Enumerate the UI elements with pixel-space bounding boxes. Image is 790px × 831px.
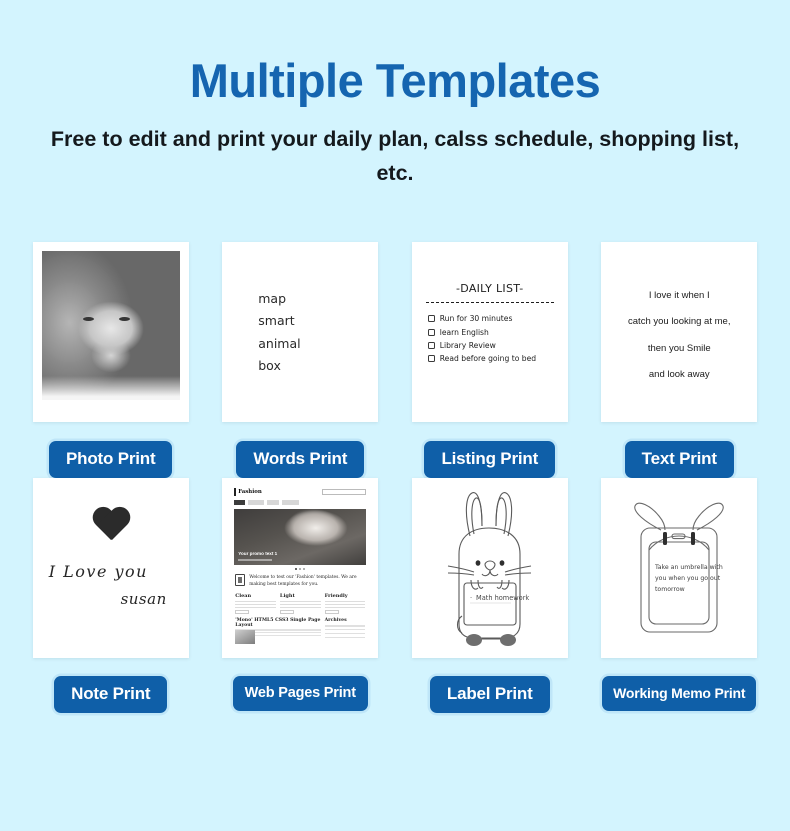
webpage-mock: Fashion Your promo text 1 (230, 485, 370, 650)
archive-link[interactable] (325, 629, 366, 630)
template-cell-words-print: map smart animal box Words Print (210, 242, 392, 478)
memo-ear-right (693, 503, 723, 530)
memo-line: tomorrow (655, 586, 685, 593)
checkbox-icon[interactable] (428, 315, 435, 322)
nav-item-about[interactable] (267, 500, 279, 505)
archive-link[interactable] (325, 637, 366, 638)
card-preview-label-print[interactable]: · Math homework (412, 478, 568, 658)
quote-line: then you Smile (613, 335, 745, 362)
feature-title: Friendly (325, 593, 366, 599)
text-placeholder-line (235, 601, 276, 602)
photo-print-button[interactable]: Photo Print (49, 441, 172, 478)
label-note-area (464, 583, 516, 625)
page-subtitle: Free to edit and print your daily plan, … (45, 105, 745, 190)
feature-column: Clean (235, 593, 276, 614)
word-item: smart (258, 310, 378, 332)
feature-title: Light (280, 593, 321, 599)
note-print-button[interactable]: Note Print (54, 676, 167, 713)
portrait-eye-right (119, 317, 130, 321)
carousel-dot[interactable] (303, 568, 305, 570)
checklist-label: Read before going to bed (440, 354, 536, 363)
template-cell-web-pages-print: Fashion Your promo text 1 (210, 478, 392, 713)
memo-ear-left (635, 503, 665, 530)
words-print-button[interactable]: Words Print (236, 441, 364, 478)
rabbit-whisker (448, 566, 474, 572)
web-pages-print-button[interactable]: Web Pages Print (233, 676, 368, 711)
webpage-header: Fashion (230, 485, 370, 498)
carousel-dot[interactable] (299, 568, 301, 570)
read-more-button[interactable] (280, 610, 294, 614)
article-thumbnail (235, 630, 255, 644)
memo-clip-left (663, 532, 667, 545)
page-title: Multiple Templates (0, 0, 790, 105)
rabbit-whisker (448, 573, 474, 575)
template-cell-working-memo-print: Take an umbrella with you when you go ou… (589, 478, 771, 713)
checkbox-icon[interactable] (428, 329, 435, 336)
card-preview-web-pages-print[interactable]: Fashion Your promo text 1 (222, 478, 378, 658)
hero-subline (238, 559, 272, 561)
card-preview-note-print[interactable]: I Love you susan (33, 478, 189, 658)
heart-icon (91, 508, 131, 544)
label-bullet: · (470, 594, 472, 602)
rabbit-whisker (505, 573, 531, 575)
feature-column: Friendly (325, 593, 366, 614)
text-placeholder-line (280, 607, 321, 608)
template-cell-listing-print: -DAILY LIST- Run for 30 minutes learn En… (399, 242, 581, 478)
archive-link[interactable] (325, 625, 366, 626)
site-logo-text: Fashion (238, 489, 262, 495)
read-more-button[interactable] (325, 610, 339, 614)
archives-block: Archives (325, 618, 366, 644)
word-item: animal (258, 333, 378, 355)
welcome-text: Welcome to test our 'Fashion' templates.… (249, 574, 365, 588)
template-cell-note-print: I Love you susan Note Print (20, 478, 202, 713)
rabbit-eye-right (499, 560, 504, 566)
hero-image: Your promo text 1 (234, 509, 366, 565)
dashed-divider (426, 302, 554, 303)
checklist-label: Run for 30 minutes (440, 314, 513, 323)
card-preview-working-memo-print[interactable]: Take an umbrella with you when you go ou… (601, 478, 757, 658)
template-cell-text-print: I love it when I catch you looking at me… (589, 242, 771, 478)
note-line-1: I Love you (33, 544, 189, 581)
checklist-row[interactable]: Read before going to bed (412, 352, 568, 365)
card-preview-photo-print[interactable] (33, 242, 189, 422)
rabbit-paw-left (471, 580, 478, 589)
templates-showcase-page: Multiple Templates Free to edit and prin… (0, 0, 790, 831)
archive-link[interactable] (325, 633, 366, 634)
checkbox-icon[interactable] (428, 355, 435, 362)
article-title: 'Mono' HTML5 CSS3 Single Page Layout (235, 618, 320, 628)
webpage-footer: 'Mono' HTML5 CSS3 Single Page Layout Arc… (230, 614, 370, 644)
checklist-label: Library Review (440, 341, 496, 350)
checklist-row[interactable]: Library Review (412, 339, 568, 352)
rabbit-nose (485, 561, 495, 570)
logo-bar-icon (234, 488, 236, 496)
hero-caption: Your promo text 1 (238, 551, 277, 556)
template-card-grid: Photo Print map smart animal box Words P… (0, 242, 790, 713)
daily-list-title: -DAILY LIST- (412, 242, 568, 295)
site-logo: Fashion (234, 488, 262, 496)
checklist-label: learn English (440, 328, 489, 337)
text-placeholder-line (325, 601, 366, 602)
card-preview-listing-print[interactable]: -DAILY LIST- Run for 30 minutes learn En… (412, 242, 568, 422)
article-block: 'Mono' HTML5 CSS3 Single Page Layout (235, 618, 320, 644)
note-line-2: susan (33, 581, 189, 608)
memo-line: Take an umbrella with (654, 564, 723, 571)
feature-title: Clean (235, 593, 276, 599)
checklist-row[interactable]: Run for 30 minutes (412, 312, 568, 325)
feature-column: Light (280, 593, 321, 614)
checklist-row[interactable]: learn English (412, 325, 568, 338)
memo-clip-right (691, 532, 695, 545)
quote-text-block: I love it when I catch you looking at me… (601, 242, 757, 388)
word-list: map smart animal box (222, 242, 378, 377)
feature-columns: Clean Light (230, 591, 370, 614)
carousel-dot[interactable] (295, 568, 297, 570)
nav-item-contacts[interactable] (282, 500, 299, 505)
template-cell-label-print: · Math homework Label Print (399, 478, 581, 713)
card-preview-text-print[interactable]: I love it when I catch you looking at me… (601, 242, 757, 422)
text-print-button[interactable]: Text Print (625, 441, 734, 478)
quote-line: and look away (613, 362, 745, 389)
text-placeholder-line (235, 604, 276, 605)
read-more-button[interactable] (235, 610, 249, 614)
rabbit-eye-left (475, 560, 480, 566)
working-memo-print-button[interactable]: Working Memo Print (602, 676, 756, 711)
text-placeholder-line (235, 607, 276, 608)
quote-line: catch you looking at me, (613, 309, 745, 336)
label-print-button[interactable]: Label Print (430, 676, 550, 713)
word-item: box (258, 355, 378, 377)
rabbit-label-illustration: · Math homework (412, 478, 568, 658)
portrait-eye-left (83, 317, 94, 321)
nav-item-home[interactable] (234, 500, 245, 505)
rabbit-foot-right (500, 634, 516, 646)
nav-item-portfolio[interactable] (248, 500, 264, 505)
welcome-block: Welcome to test our 'Fashion' templates.… (230, 572, 370, 591)
quote-line: I love it when I (613, 282, 745, 309)
checkbox-icon[interactable] (428, 342, 435, 349)
text-placeholder-line (280, 601, 321, 602)
rabbit-paw-right (502, 580, 509, 589)
archives-title: Archives (325, 618, 366, 623)
text-placeholder-line (325, 607, 366, 608)
rabbit-mouth (482, 570, 490, 576)
listing-print-button[interactable]: Listing Print (424, 441, 555, 478)
label-text: Math homework (476, 594, 529, 602)
rabbit-whisker (505, 566, 531, 572)
word-item: map (258, 288, 378, 310)
portrait-photo-image (42, 251, 180, 400)
rabbit-foot-left (466, 634, 482, 646)
text-placeholder-line (280, 604, 321, 605)
search-input[interactable] (322, 489, 366, 495)
memo-tag-illustration: Take an umbrella with you when you go ou… (601, 478, 757, 658)
text-placeholder-line (325, 604, 366, 605)
html5-badge-icon (235, 574, 245, 586)
template-cell-photo-print: Photo Print (20, 242, 202, 478)
card-preview-words-print[interactable]: map smart animal box (222, 242, 378, 422)
memo-line: you when you go out (655, 575, 721, 582)
memo-inner-panel (649, 542, 709, 624)
webpage-nav (230, 498, 370, 508)
photo-frame (42, 251, 180, 400)
carousel-dots[interactable] (230, 565, 370, 572)
